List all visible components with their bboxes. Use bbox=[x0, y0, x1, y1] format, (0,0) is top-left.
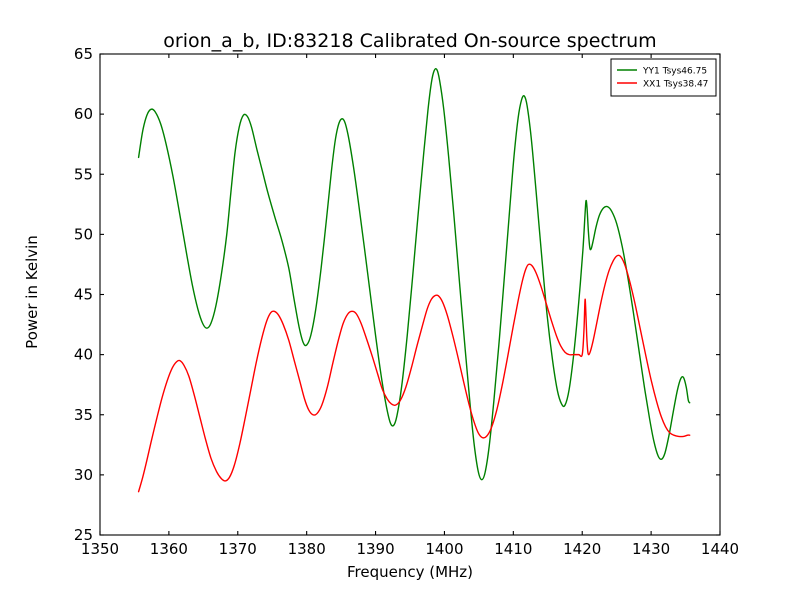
y-tick-label: 30 bbox=[74, 466, 93, 484]
x-tick-label: 1360 bbox=[150, 540, 188, 558]
axes-frame bbox=[100, 54, 720, 535]
x-tick-label: 1430 bbox=[632, 540, 670, 558]
figure-canvas: orion_a_b, ID:83218 Calibrated On-source… bbox=[0, 0, 800, 600]
legend-box bbox=[611, 59, 716, 96]
legend-label-2: XX1 Tsys38.47 bbox=[643, 80, 708, 90]
x-axis-label: Frequency (MHz) bbox=[100, 563, 720, 581]
axis-ticks: 1350136013701380139014001410142014301440… bbox=[74, 45, 739, 558]
series-line-2 bbox=[139, 255, 690, 491]
x-tick-label: 1420 bbox=[563, 540, 601, 558]
y-tick-label: 40 bbox=[74, 346, 93, 364]
y-tick-label: 50 bbox=[74, 225, 93, 243]
y-tick-label: 65 bbox=[74, 45, 93, 63]
legend[interactable]: YY1 Tsys46.75XX1 Tsys38.47 bbox=[611, 59, 716, 96]
y-tick-label: 60 bbox=[74, 105, 93, 123]
spectrum-plot: 1350136013701380139014001410142014301440… bbox=[0, 0, 800, 600]
y-tick-label: 45 bbox=[74, 286, 93, 304]
legend-label-1: YY1 Tsys46.75 bbox=[642, 67, 707, 77]
x-tick-label: 1370 bbox=[219, 540, 257, 558]
y-tick-label: 55 bbox=[74, 165, 93, 183]
x-tick-label: 1380 bbox=[288, 540, 326, 558]
x-tick-label: 1410 bbox=[494, 540, 532, 558]
y-tick-label: 25 bbox=[74, 526, 93, 544]
x-tick-label: 1440 bbox=[701, 540, 739, 558]
series-group bbox=[139, 69, 690, 492]
series-line-1 bbox=[139, 69, 690, 480]
y-tick-label: 35 bbox=[74, 406, 93, 424]
x-tick-label: 1400 bbox=[425, 540, 463, 558]
x-tick-label: 1390 bbox=[356, 540, 394, 558]
